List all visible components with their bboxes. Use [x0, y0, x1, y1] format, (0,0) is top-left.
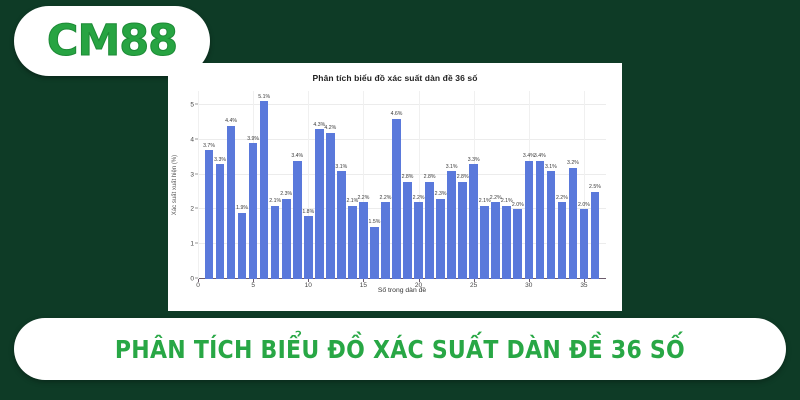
chart-plot-area: 012345 05101520253035 3.7%3.3%4.4%1.9%3.…: [198, 91, 606, 279]
chart-bar-label: 3.9%: [247, 136, 259, 142]
page-root: CM88 Phân tích biểu đồ xác suất dàn đề 3…: [0, 0, 800, 400]
chart-bar: [502, 206, 511, 279]
y-axis-tick-label: 3: [190, 171, 194, 178]
x-axis-tick-mark: [363, 279, 364, 282]
chart-bar: [480, 206, 489, 279]
chart-x-axis-label: Số trong dàn đề: [198, 287, 606, 294]
chart-bar-label: 2.3%: [435, 191, 447, 197]
chart-bar: [447, 171, 456, 279]
chart-bar-label: 3.3%: [468, 157, 480, 163]
chart-bar-label: 2.3%: [280, 191, 292, 197]
chart-bar-label: 2.1%: [269, 198, 281, 204]
chart-bar: [425, 182, 434, 279]
chart-title: Phân tích biểu đồ xác suất dàn đề 36 số: [168, 73, 622, 83]
chart-bar-label: 3.1%: [545, 164, 557, 170]
chart-bar: [525, 161, 534, 279]
chart-bar: [547, 171, 556, 279]
y-axis-tick-label: 4: [190, 136, 194, 143]
chart-bar-label: 2.2%: [357, 195, 369, 201]
chart-bar: [491, 202, 500, 279]
chart-bar-label: 3.3%: [214, 157, 226, 163]
chart-bar: [414, 202, 423, 279]
chart-bar: [591, 192, 600, 279]
y-axis-tick-label: 0: [190, 276, 194, 283]
chart-panel: Phân tích biểu đồ xác suất dàn đề 36 số …: [168, 63, 622, 311]
chart-bar-label: 4.4%: [225, 118, 237, 124]
chart-bar-label: 3.4%: [291, 153, 303, 159]
chart-bar-label: 5.1%: [258, 94, 270, 100]
x-axis-tick-mark: [198, 279, 199, 282]
chart-bar: [348, 206, 357, 279]
chart-bar: [205, 150, 214, 279]
chart-bar: [536, 161, 545, 279]
chart-bar: [238, 213, 247, 279]
chart-bar: [569, 168, 578, 279]
chart-bar-label: 3.4%: [534, 153, 546, 159]
chart-bar-label: 3.7%: [203, 143, 215, 149]
chart-bar: [558, 202, 567, 279]
chart-bar: [392, 119, 401, 279]
chart-bar-label: 2.5%: [589, 184, 601, 190]
chart-bar-label: 2.2%: [556, 195, 568, 201]
chart-bar: [359, 202, 368, 279]
chart-bar-label: 3.1%: [335, 164, 347, 170]
chart-bar-label: 1.8%: [302, 209, 314, 215]
chart-bar: [458, 182, 467, 279]
chart-bar-label: 1.5%: [369, 219, 381, 225]
chart-y-axis-label: Xác suất xuất hiện (%): [170, 91, 180, 279]
chart-bar-label: 2.2%: [380, 195, 392, 201]
chart-bar: [337, 171, 346, 279]
headline-banner-text: PHÂN TÍCH BIỂU ĐỒ XÁC SUẤT DÀN ĐỀ 36 SỐ: [115, 335, 685, 364]
chart-bar-label: 2.2%: [413, 195, 425, 201]
chart-bar: [403, 182, 412, 279]
chart-bar: [381, 202, 390, 279]
y-axis-tick-label: 2: [190, 206, 194, 213]
chart-bar-label: 4.2%: [324, 125, 336, 131]
x-axis-tick-mark: [308, 279, 309, 282]
chart-bar-label: 3.1%: [446, 164, 458, 170]
y-axis-tick-label: 5: [190, 101, 194, 108]
chart-bar: [271, 206, 280, 279]
chart-bar-label: 2.8%: [402, 174, 414, 180]
chart-bar: [326, 133, 335, 279]
chart-bar: [370, 227, 379, 279]
chart-bar: [469, 164, 478, 279]
x-axis-tick-mark: [253, 279, 254, 282]
chart-bar: [293, 161, 302, 279]
chart-bar: [436, 199, 445, 279]
headline-banner: PHÂN TÍCH BIỂU ĐỒ XÁC SUẤT DÀN ĐỀ 36 SỐ: [14, 318, 786, 380]
chart-bar-label: 2.8%: [457, 174, 469, 180]
chart-bar-label: 1.9%: [236, 205, 248, 211]
chart-bar: [216, 164, 225, 279]
chart-bar-label: 4.6%: [391, 111, 403, 117]
chart-bar-label: 2.0%: [578, 202, 590, 208]
chart-bar: [513, 209, 522, 279]
brand-logo-text: CM88: [47, 20, 177, 63]
chart-bar-label: 2.0%: [512, 202, 524, 208]
chart-bar: [304, 216, 313, 279]
chart-bar: [249, 143, 258, 279]
chart-bar: [580, 209, 589, 279]
chart-bar: [227, 126, 236, 279]
chart-y-axis-label-text: Xác suất xuất hiện (%): [172, 155, 178, 215]
x-axis-tick-mark: [419, 279, 420, 282]
x-axis-tick-mark: [529, 279, 530, 282]
chart-bar-label: 2.8%: [424, 174, 436, 180]
chart-bar: [315, 129, 324, 279]
chart-bars: 3.7%3.3%4.4%1.9%3.9%5.1%2.1%2.3%3.4%1.8%…: [198, 91, 606, 279]
chart-bar-label: 3.2%: [567, 160, 579, 166]
x-axis-tick-mark: [584, 279, 585, 282]
y-axis-tick-label: 1: [190, 241, 194, 248]
chart-bar: [282, 199, 291, 279]
chart-bar: [260, 101, 269, 279]
x-axis-tick-mark: [474, 279, 475, 282]
